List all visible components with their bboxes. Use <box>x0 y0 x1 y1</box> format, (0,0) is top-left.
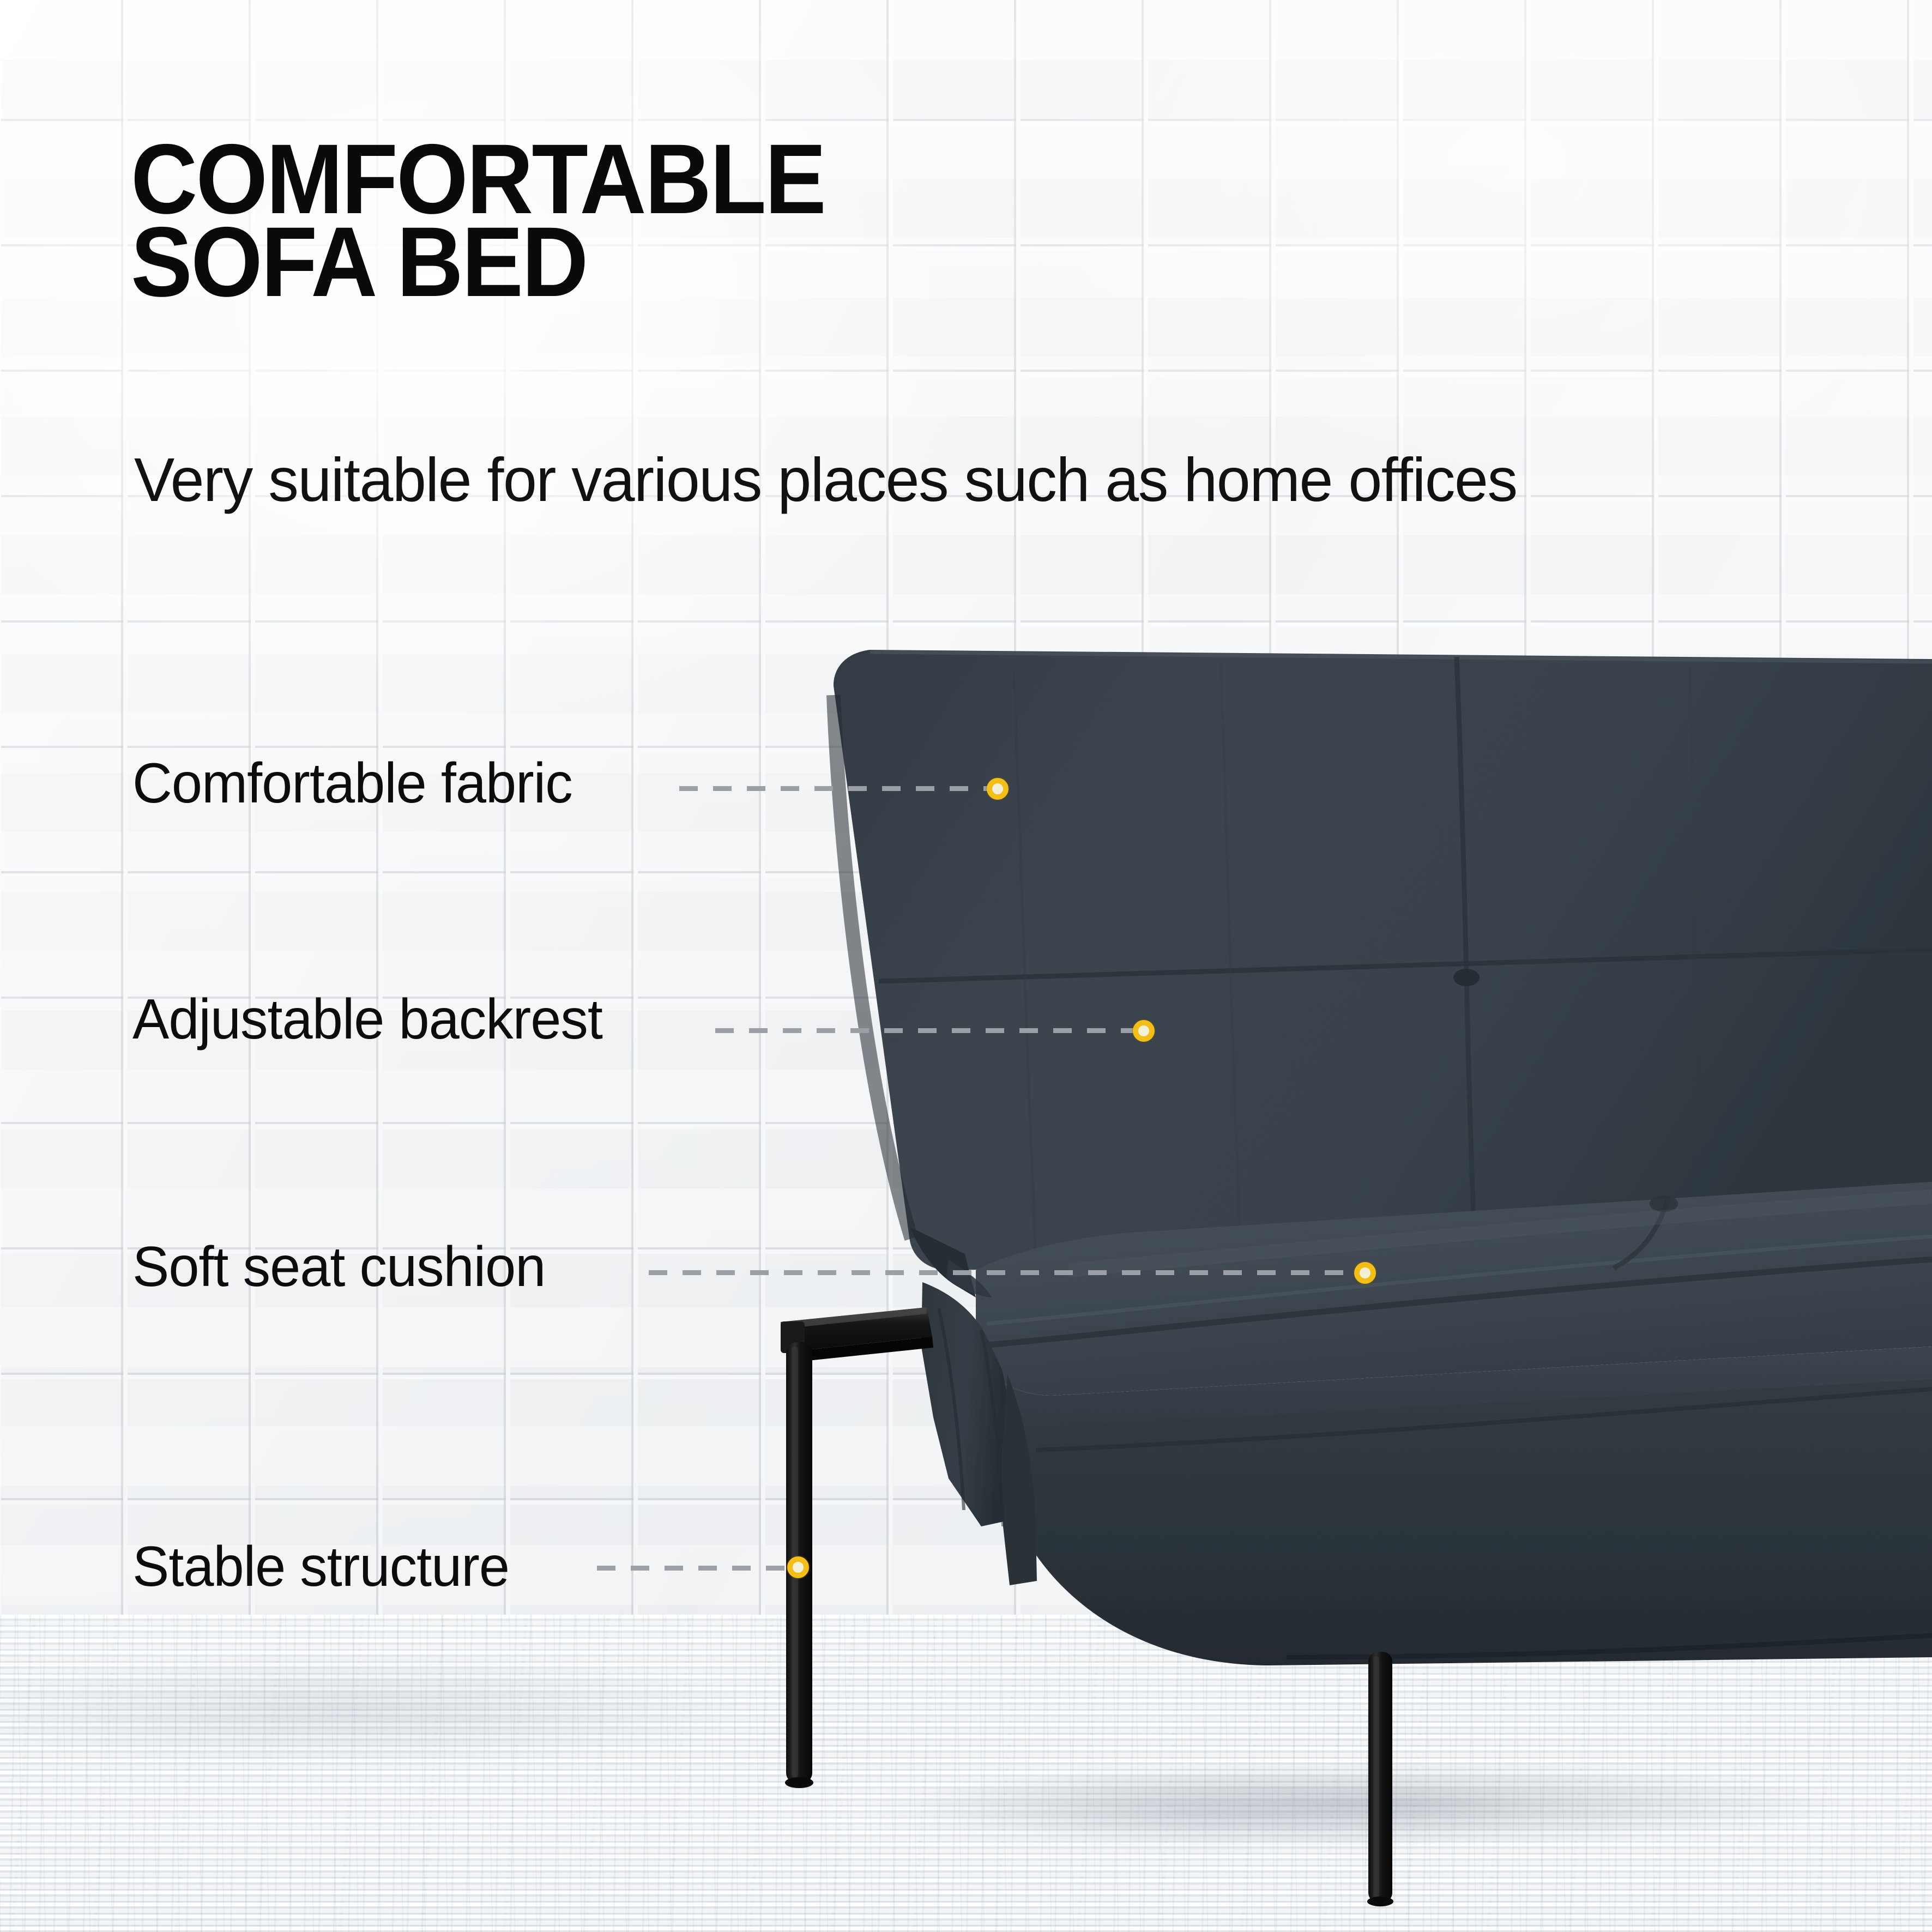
sofa-base-frame <box>1009 1379 1932 1665</box>
callout-dot-icon-adjustable-backrest <box>1133 1020 1155 1042</box>
feature-label-soft-seat-cushion: Soft seat cushion <box>132 1239 545 1295</box>
leader-line-soft-seat-cushion <box>649 1270 1363 1275</box>
callout-dot-icon-comfortable-fabric <box>987 778 1009 800</box>
page-subtitle: Very suitable for various places such as… <box>134 447 1772 512</box>
leader-line-adjustable-backrest <box>715 1028 1140 1033</box>
page-title: COMFORTABLE SOFA BED <box>131 137 1297 303</box>
feature-label-adjustable-backrest: Adjustable backrest <box>132 991 602 1048</box>
callout-dot-icon-soft-seat-cushion <box>1354 1262 1376 1284</box>
product-infographic: COMFORTABLE SOFA BED Very suitable for v… <box>0 0 1932 1932</box>
feature-label-stable-structure: Stable structure <box>132 1538 509 1595</box>
leader-line-stable-structure <box>597 1566 799 1571</box>
callout-dot-icon-stable-structure <box>787 1556 809 1578</box>
sofa-rear-right-leg <box>1367 1652 1393 1906</box>
leader-line-comfortable-fabric <box>679 786 993 791</box>
sofa-backrest <box>834 650 1932 1270</box>
feature-label-comfortable-fabric: Comfortable fabric <box>132 755 572 812</box>
